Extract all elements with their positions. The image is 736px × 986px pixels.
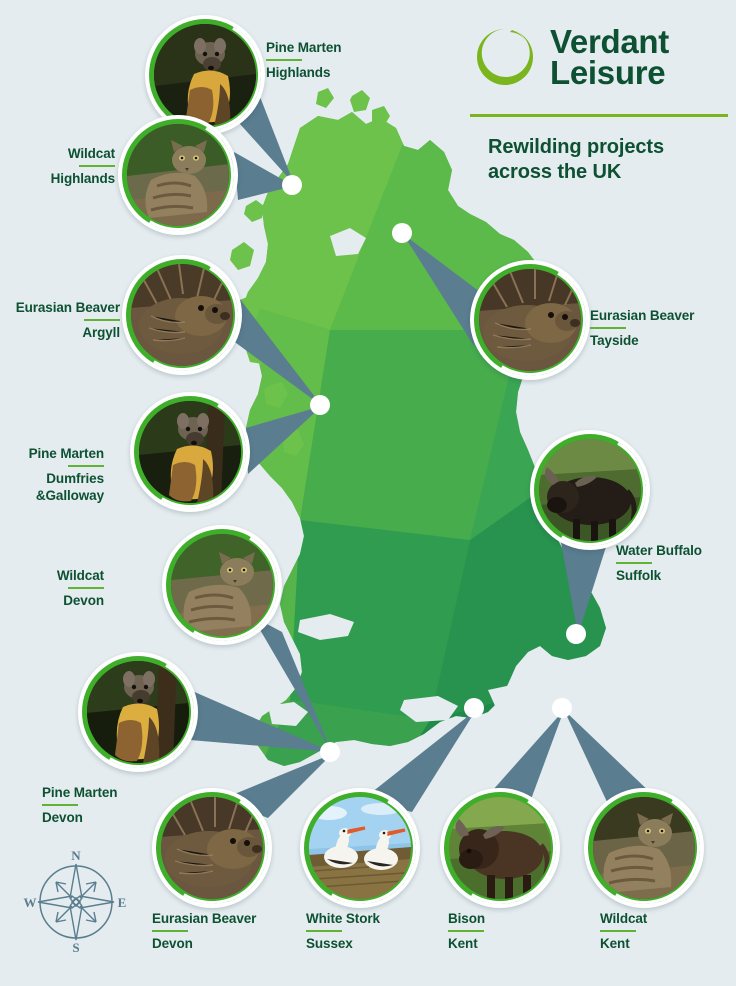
label-bison-kent: Bison Kent	[448, 911, 548, 953]
label-wildcat-highlands: Wildcat Highlands	[0, 146, 115, 188]
location-name: Devon	[42, 810, 162, 826]
species-name: Eurasian Beaver	[0, 300, 120, 316]
location-name: Kent	[448, 936, 548, 952]
location-name: Highlands	[266, 65, 386, 81]
label-underline	[68, 465, 104, 467]
label-underline	[68, 587, 104, 589]
label-eurasian-beaver-devon: Eurasian Beaver Devon	[152, 911, 292, 953]
location-name: Kent	[600, 936, 700, 952]
species-name: Pine Marten	[42, 785, 162, 801]
brand-name-line1: Verdant	[550, 26, 669, 57]
location-name: Dumfries &Galloway	[0, 471, 104, 504]
label-underline	[42, 804, 78, 806]
label-underline	[448, 930, 484, 932]
label-underline	[590, 327, 626, 329]
label-water-buffalo-suffolk: Water Buffalo Suffolk	[616, 543, 734, 585]
species-name: Eurasian Beaver	[590, 308, 720, 324]
compass-north-label: N	[71, 848, 81, 863]
compass-south-label: S	[72, 940, 79, 955]
label-wildcat-devon: Wildcat Devon	[0, 568, 104, 610]
location-name: Sussex	[306, 936, 426, 952]
compass-rose: N S W E	[22, 848, 130, 956]
brand-logo[interactable]: Verdant Leisure	[474, 26, 724, 88]
location-name: Devon	[0, 593, 104, 609]
label-eurasian-beaver-argyll: Eurasian Beaver Argyll	[0, 300, 120, 342]
label-wildcat-kent: Wildcat Kent	[600, 911, 700, 953]
compass-east-label: E	[118, 895, 127, 910]
species-name: Pine Marten	[266, 40, 386, 56]
species-name: Wildcat	[0, 568, 104, 584]
species-name: Water Buffalo	[616, 543, 734, 559]
label-underline	[79, 165, 115, 167]
label-underline	[306, 930, 342, 932]
location-name: Devon	[152, 936, 292, 952]
compass-west-label: W	[24, 895, 37, 910]
brand-name: Verdant Leisure	[550, 26, 669, 88]
species-name: White Stork	[306, 911, 426, 927]
location-name: Highlands	[0, 171, 115, 187]
brand-name-line2: Leisure	[550, 57, 669, 88]
species-name: Pine Marten	[0, 446, 104, 462]
label-underline	[616, 562, 652, 564]
species-name: Eurasian Beaver	[152, 911, 292, 927]
label-pine-marten-highlands: Pine Marten Highlands	[266, 40, 386, 82]
label-pine-marten-devon: Pine Marten Devon	[42, 785, 162, 827]
verdant-ring-logo-icon	[474, 26, 536, 88]
location-name: Suffolk	[616, 568, 734, 584]
location-name: Argyll	[0, 325, 120, 341]
label-underline	[266, 59, 302, 61]
species-name: Bison	[448, 911, 548, 927]
label-pine-marten-dumfries: Pine Marten Dumfries &Galloway	[0, 446, 104, 504]
species-name: Wildcat	[600, 911, 700, 927]
species-name: Wildcat	[0, 146, 115, 162]
label-underline	[600, 930, 636, 932]
label-underline	[152, 930, 188, 932]
label-eurasian-beaver-tayside: Eurasian Beaver Tayside	[590, 308, 720, 350]
label-underline	[84, 319, 120, 321]
label-white-stork-sussex: White Stork Sussex	[306, 911, 426, 953]
location-name: Tayside	[590, 333, 720, 349]
